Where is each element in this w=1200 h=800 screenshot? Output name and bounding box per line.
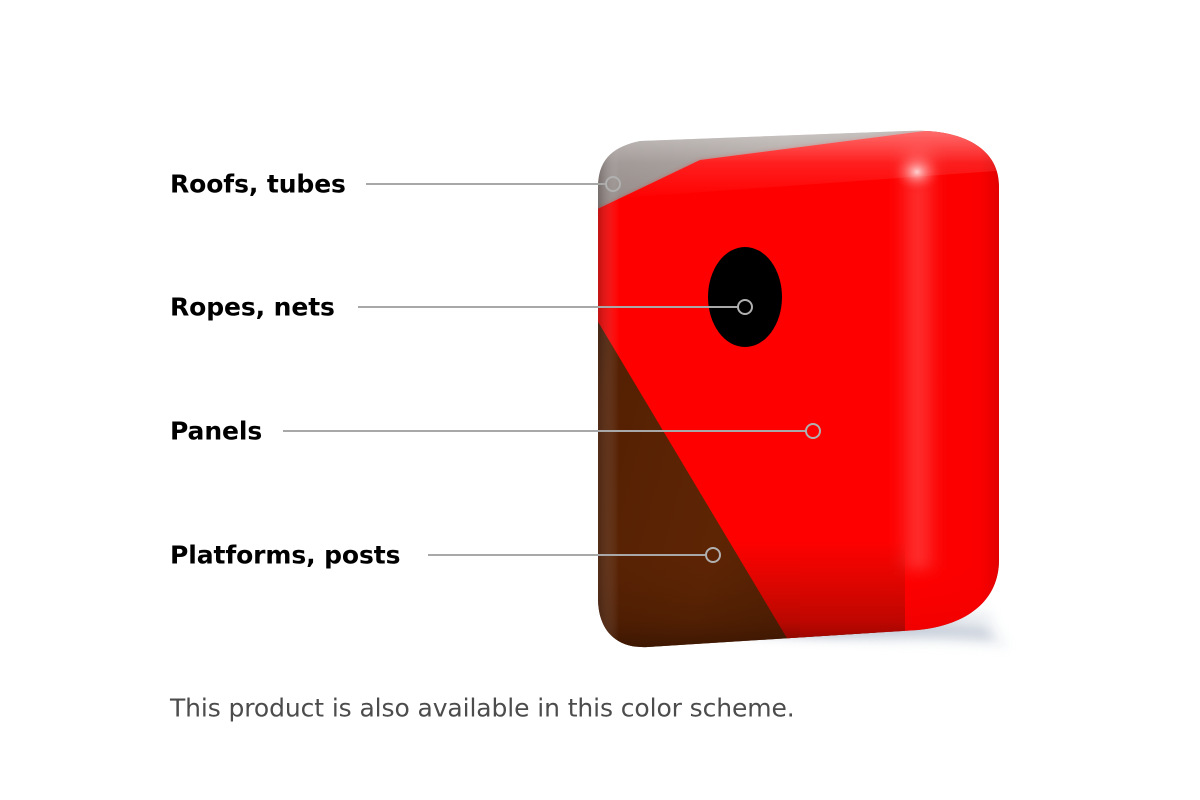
product-color-scheme-illustration (0, 0, 1200, 800)
availability-caption: This product is also available in this c… (170, 694, 795, 723)
callout-label-panels: Panels (170, 419, 262, 444)
tile-body (585, 118, 1015, 670)
illustration-canvas: Roofs, tubesRopes, netsPanelsPlatforms, … (0, 0, 1200, 800)
callout-label-platforms-posts: Platforms, posts (170, 543, 400, 568)
left-rim-shade (585, 120, 619, 660)
black-accent-circle (708, 247, 782, 347)
callout-label-roofs-tubes: Roofs, tubes (170, 172, 346, 197)
callout-label-ropes-nets: Ropes, nets (170, 295, 335, 320)
red-sheen-streak (895, 150, 941, 570)
